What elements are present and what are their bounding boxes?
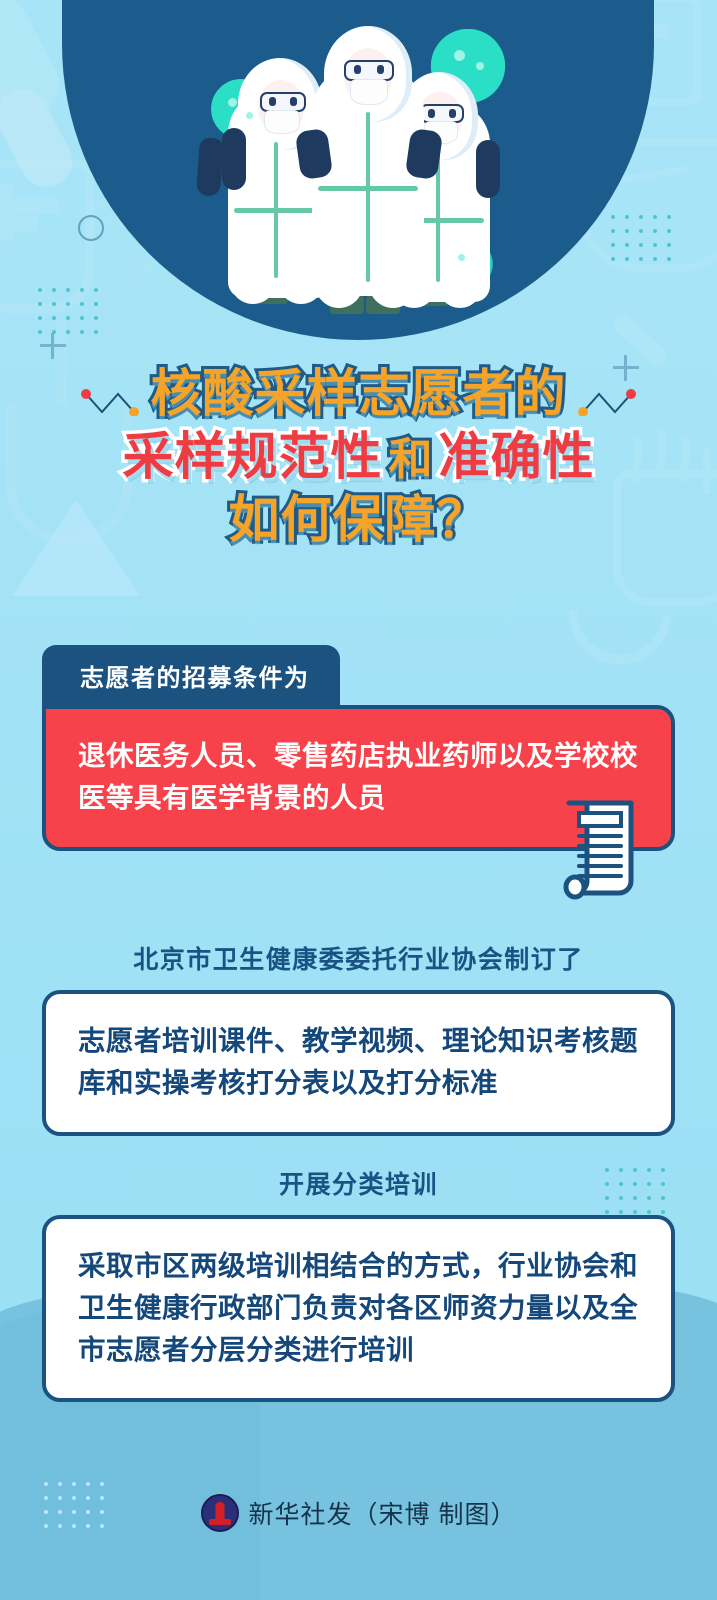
block-3-label: 开展分类培训 [42, 1165, 675, 1201]
title-text-line-1: 核酸采样志愿者的 [150, 365, 566, 422]
virus-spot [476, 62, 484, 70]
content-block-1: 志愿者的招募条件为 退休医务人员、零售药店执业药师以及学校校医等具有医学背景的人… [42, 645, 675, 851]
title-line-1: 核酸采样志愿者的 [0, 368, 717, 419]
scroll-document-icon [555, 797, 641, 901]
content-block-3: 开展分类培训 采取市区两级培训相结合的方式，行业协会和卫生健康行政部门负责对各区… [42, 1165, 675, 1402]
title-line-2: 采样规范性和准确性 [0, 431, 717, 482]
block-2-body: 志愿者培训课件、教学视频、理论知识考核题库和实操考核打分表以及打分标准 [78, 1020, 639, 1104]
virus-spot [454, 50, 465, 61]
hero-illustration [62, 0, 654, 340]
content-block-2: 北京市卫生健康委委托行业协会制订了 志愿者培训课件、教学视频、理论知识考核题库和… [42, 940, 675, 1136]
title-text-line-2-right: 准确性 [439, 428, 595, 485]
infographic-poster: 核酸采样志愿者的 采样规范性和准确性 如何保障？ 志愿者的招募条件为 退休医务人… [0, 0, 717, 1600]
block-2-label: 北京市卫生健康委委托行业协会制订了 [42, 940, 675, 976]
xinhua-logo-icon [201, 1494, 239, 1532]
block-1-label: 志愿者的招募条件为 [42, 645, 340, 707]
title-text-line-2-mid: 和 [389, 435, 433, 484]
poster-title: 核酸采样志愿者的 采样规范性和准确性 如何保障？ [0, 368, 717, 557]
footer: 新华社发（宋博 制图） [0, 1494, 717, 1532]
virus-spot [228, 98, 237, 107]
footer-credit-text: 新华社发（宋博 制图） [249, 1495, 517, 1531]
virus-spot [458, 254, 465, 261]
block-1-card: 退休医务人员、零售药店执业药师以及学校校医等具有医学背景的人员 [42, 705, 675, 851]
title-text-line-2-left: 采样规范性 [122, 428, 382, 485]
title-line-3: 如何保障？ [0, 494, 717, 545]
block-3-body: 采取市区两级培训相结合的方式，行业协会和卫生健康行政部门负责对各区师资力量以及全… [78, 1245, 639, 1370]
pill-watermark-icon [0, 0, 70, 127]
title-text-line-3: 如何保障？ [228, 491, 488, 548]
virus-spot [246, 112, 253, 119]
block-2-card: 志愿者培训课件、教学视频、理论知识考核题库和实操考核打分表以及打分标准 [42, 990, 675, 1136]
block-3-card: 采取市区两级培训相结合的方式，行业协会和卫生健康行政部门负责对各区师资力量以及全… [42, 1215, 675, 1402]
